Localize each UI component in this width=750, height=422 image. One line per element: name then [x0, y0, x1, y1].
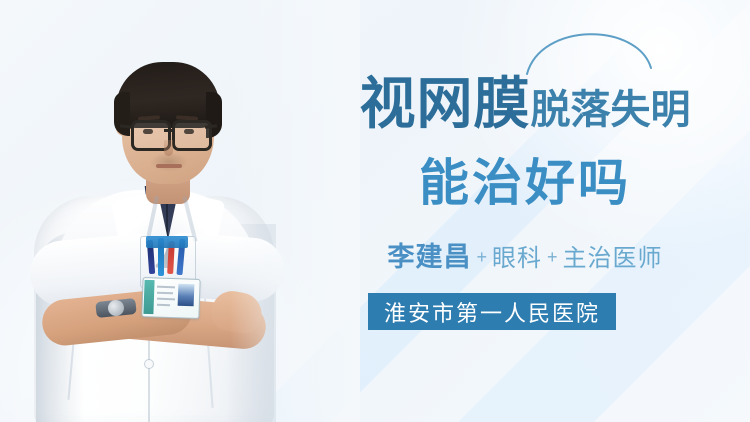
doctor-byline: 李建昌+眼科+主治医师 [300, 244, 750, 271]
id-badge-color-strip [143, 280, 154, 314]
eyeglasses-bridge [164, 129, 174, 132]
headline-main-text: 视网膜 [360, 72, 531, 135]
hospital-name-badge: 淮安市第一人民医院 [368, 293, 616, 330]
doctor-title: 主治医师 [563, 245, 663, 272]
doctor-department: 眼科 [492, 245, 542, 272]
headline-sub-text: 脱落失明 [531, 88, 691, 132]
byline-separator-1: + [471, 247, 492, 267]
banner-text-block: 视网膜脱落失明 能治好吗 李建昌+眼科+主治医师 淮安市第一人民医院 [300, 0, 750, 422]
id-badge-portrait [178, 284, 195, 307]
doctor-intro-banner: 视网膜脱落失明 能治好吗 李建昌+眼科+主治医师 淮安市第一人民医院 [0, 0, 750, 422]
headline-line-2: 能治好吗 [300, 158, 750, 208]
headline-line-1: 视网膜脱落失明 [300, 76, 750, 132]
decorative-arc-icon [525, 8, 653, 78]
mouth [156, 164, 182, 168]
byline-separator-2: + [542, 247, 563, 267]
pocket-pen-holder [146, 236, 188, 248]
doctor-name: 李建昌 [387, 242, 471, 272]
lab-coat-button-lower [145, 360, 153, 368]
nose [164, 140, 173, 156]
doctor-portrait-photo [0, 0, 330, 422]
id-badge-text-line [157, 304, 170, 306]
hair-side-left [114, 92, 130, 136]
hair [116, 62, 220, 128]
